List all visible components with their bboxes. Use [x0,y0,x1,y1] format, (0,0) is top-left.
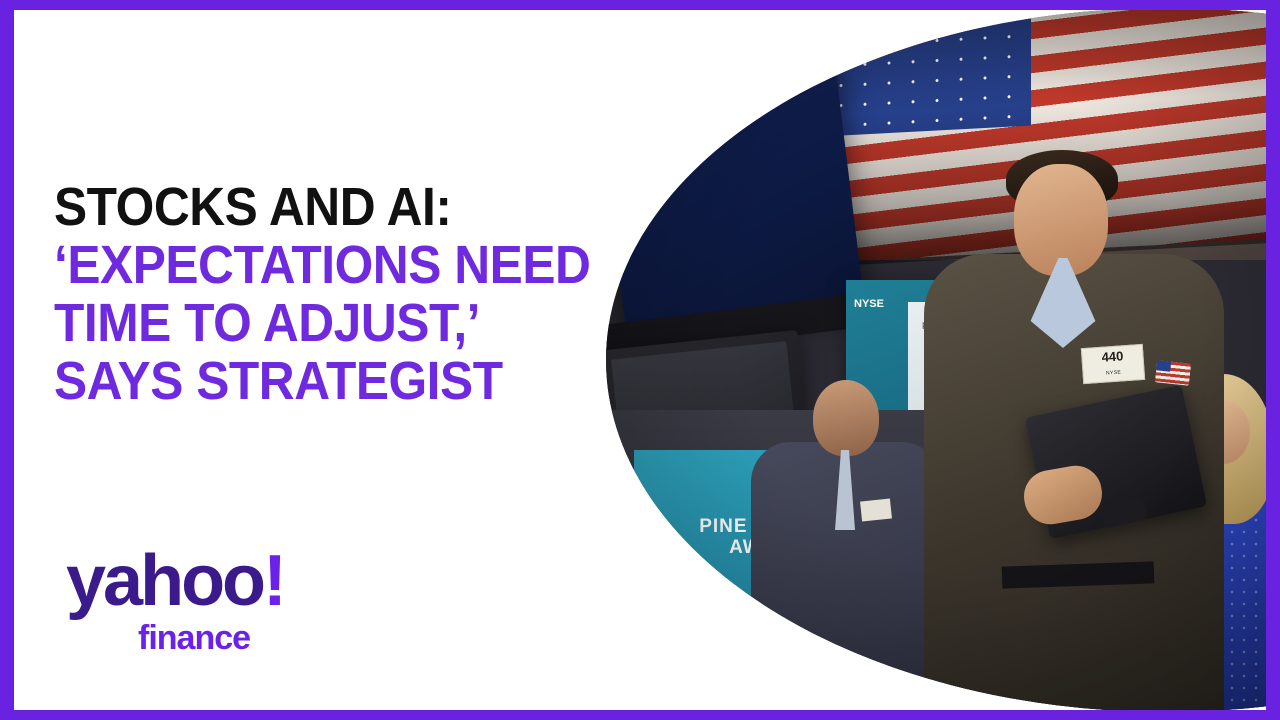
headline-line-2: ‘EXPECTATIONS NEED [54,236,615,294]
trader-flag-patch [1155,360,1191,385]
ticker-row: POST 9 [606,10,820,36]
yahoo-exclamation: ! [263,541,284,621]
thumbnail-canvas: POST 9 VOD00.0+0.12 AAPL02.01-0.08 NU01.… [14,10,1266,710]
ticker-row: VOD00.0+0.12 [606,11,822,49]
headline-line-1: STOCKS AND AI: [54,178,615,236]
photo-inner: POST 9 VOD00.0+0.12 AAPL02.01-0.08 NU01.… [606,10,1266,710]
yahoo-wordmark: yahoo! [66,549,284,613]
ticker-row: NU01.22+1.04 [606,39,825,77]
person-head [813,380,879,456]
ticker-row: AAPL02.01-0.08 [606,25,824,63]
trading-floor-photo: POST 9 VOD00.0+0.12 AAPL02.01-0.08 NU01.… [606,10,1266,710]
yahoo-text: yahoo [66,541,263,621]
yahoo-finance-logo: yahoo! finance [66,549,284,658]
person-badge [860,498,892,521]
ticker-header: POST 9 [606,21,630,36]
video-thumbnail: POST 9 VOD00.0+0.12 AAPL02.01-0.08 NU01.… [0,0,1280,720]
trader-badge: 440 NYSE [1081,344,1145,384]
headline-line-4: SAYS STRATEGIST [54,352,615,410]
trader-foreground: 440 NYSE [906,150,1236,710]
headline-block: STOCKS AND AI: ‘EXPECTATIONS NEED TIME T… [54,178,664,410]
finance-wordmark: finance [138,619,284,658]
ticker-row: MART02.01+0.44 [606,53,827,91]
trader-badge-sub: NYSE [1083,363,1144,383]
headline-line-3: TIME TO ADJUST,’ [54,294,615,352]
nyse-sign-label: NYSE [854,298,884,310]
ticker-row: KLM00.0+0.55 [612,123,836,161]
trader-badge-number: 440 [1101,348,1124,364]
